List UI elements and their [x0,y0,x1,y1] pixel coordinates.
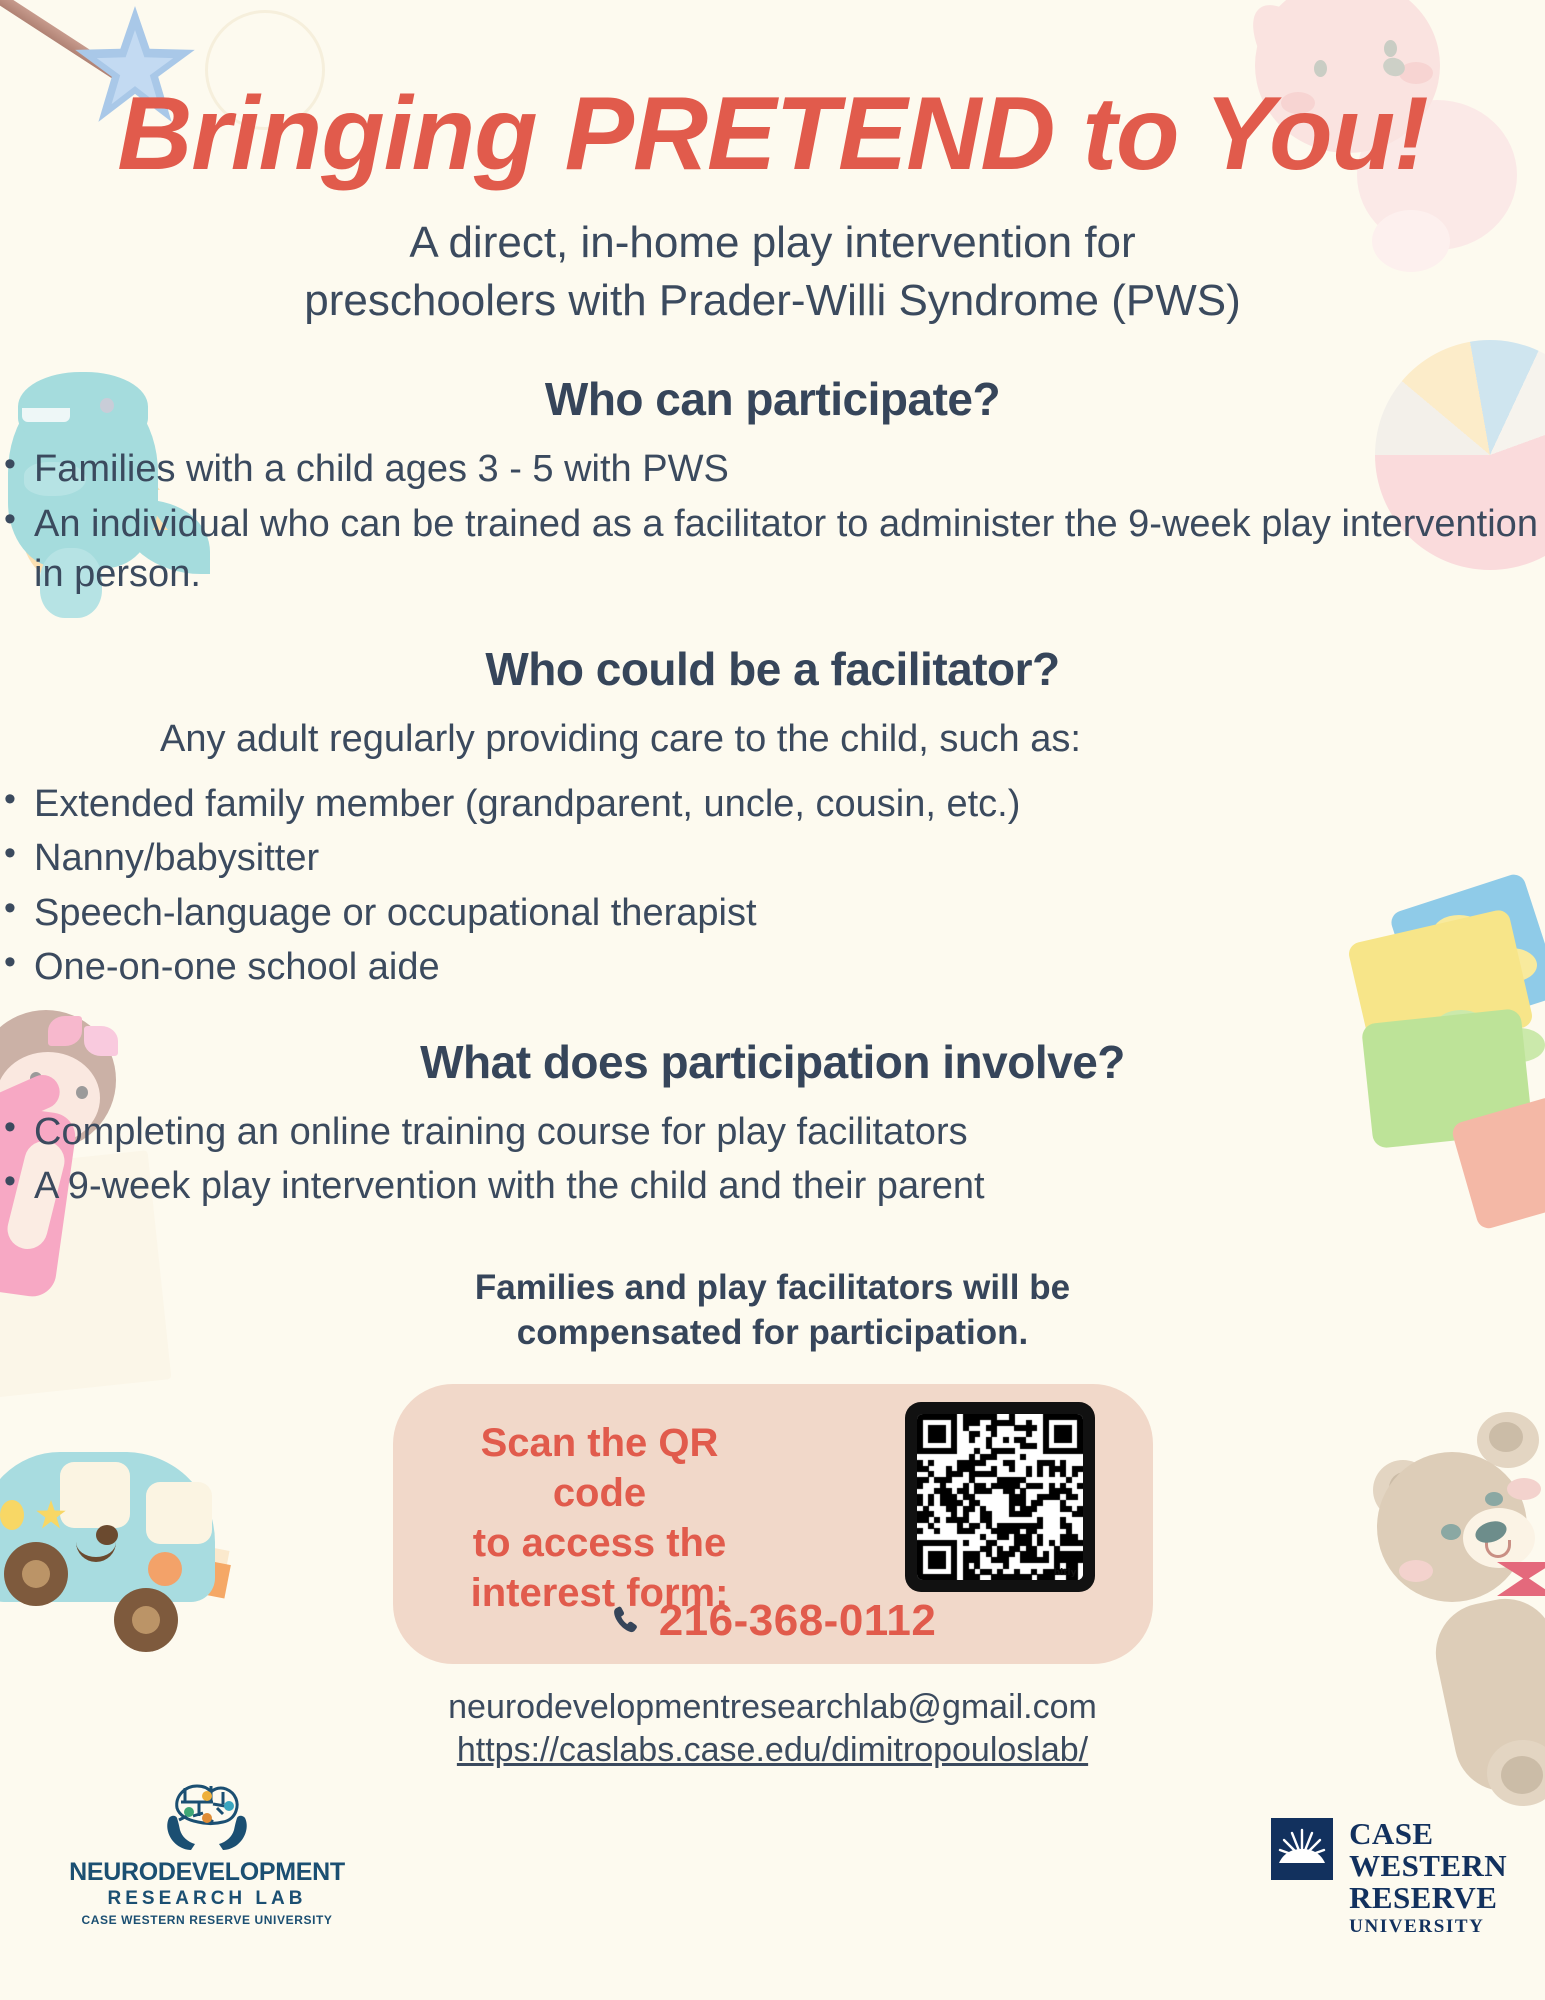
cwru-wordmark: CASE WESTERN RESERVE UNIVERSITY [1349,1818,1507,1936]
list-item: Nanny/babysitter [0,833,1545,884]
phone-row[interactable]: 216-368-0112 [393,1596,1153,1646]
list-item: Families with a child ages 3 - 5 with PW… [0,444,1545,495]
facilitator-lede: Any adult regularly providing care to th… [160,718,1545,761]
subtitle-line-2: preschoolers with Prader-Willi Syndrome … [0,272,1545,330]
involvement-list: Completing an online training course for… [0,1107,1545,1212]
contact-website[interactable]: https://caslabs.case.edu/dimitropoulosla… [457,1729,1088,1773]
qr-code-canvas [917,1414,1083,1580]
phone-number[interactable]: 216-368-0112 [659,1596,937,1646]
list-item: Completing an online training course for… [0,1107,1545,1158]
compensation-line-1: Families and play facilitators will be [0,1266,1545,1311]
qr-watermark: bitly [1054,1568,1077,1578]
qr-panel: Scan the QR code to access the interest … [393,1384,1153,1664]
list-item: One-on-one school aide [0,942,1545,993]
compensation-line-2: compensated for participation. [0,1311,1545,1356]
section-heading-facilitator: Who could be a facilitator? [0,642,1545,696]
facilitator-list: Extended family member (grandparent, unc… [0,779,1545,993]
qr-cta-line-1: Scan the QR code [435,1418,765,1518]
page-subtitle: A direct, in-home play intervention for … [0,214,1545,330]
poster-content: Bringing PRETEND to You! A direct, in-ho… [0,0,1545,1773]
contact-email[interactable]: neurodevelopmentresearchlab@gmail.com [0,1686,1545,1730]
lab-name: NEURODEVELOPMENT [62,1858,352,1887]
contact-block: neurodevelopmentresearchlab@gmail.com ht… [0,1686,1545,1773]
subtitle-line-1: A direct, in-home play intervention for [0,214,1545,272]
lab-university: CASE WESTERN RESERVE UNIVERSITY [62,1913,352,1927]
cwru-logo: CASE WESTERN RESERVE UNIVERSITY [1271,1818,1507,1936]
list-item: Speech-language or occupational therapis… [0,888,1545,939]
brain-in-hands-icon [147,1778,267,1856]
cwru-line-1: CASE [1349,1818,1507,1850]
qr-cta-line-2: to access the [435,1518,765,1568]
lab-subtitle: RESEARCH LAB [62,1888,352,1910]
cwru-line-3: RESERVE [1349,1882,1507,1914]
qr-code[interactable]: bitly [905,1402,1095,1592]
phone-icon [609,1602,643,1640]
qr-code-image: bitly [917,1414,1083,1580]
poster-root: Bringing PRETEND to You! A direct, in-ho… [0,0,1545,2000]
section-heading-involvement: What does participation involve? [0,1035,1545,1089]
sunburst-icon [1271,1818,1333,1880]
section-heading-participate: Who can participate? [0,372,1545,426]
participate-list: Families with a child ages 3 - 5 with PW… [0,444,1545,600]
page-title: Bringing PRETEND to You! [0,0,1545,186]
list-item: Extended family member (grandparent, unc… [0,779,1545,830]
cwru-line-4: UNIVERSITY [1349,1917,1507,1937]
list-item: An individual who can be trained as a fa… [0,499,1545,600]
compensation-note: Families and play facilitators will be c… [0,1266,1545,1356]
cwru-line-2: WESTERN [1349,1850,1507,1882]
qr-call-to-action: Scan the QR code to access the interest … [435,1418,765,1618]
lab-logo: NEURODEVELOPMENT RESEARCH LAB CASE WESTE… [62,1778,352,1927]
list-item: A 9-week play intervention with the chil… [0,1161,1545,1212]
